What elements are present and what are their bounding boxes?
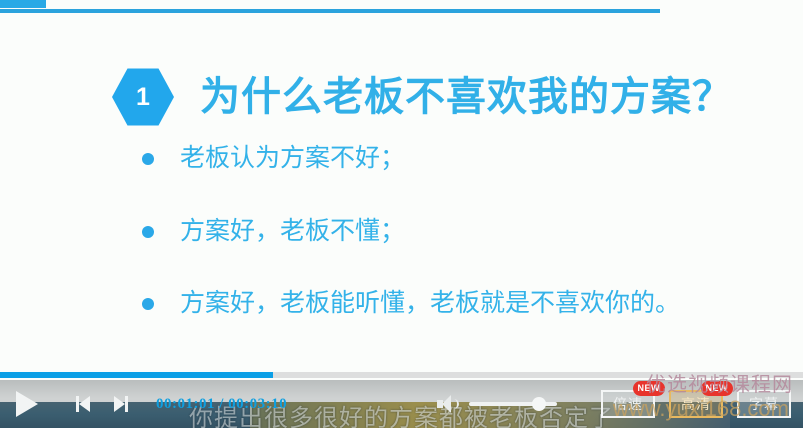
play-icon xyxy=(16,391,38,417)
bullet-dot-icon xyxy=(142,153,154,165)
bullet-text: 方案好，老板不懂； xyxy=(180,215,405,248)
previous-button[interactable] xyxy=(70,393,96,415)
speaker-wave xyxy=(453,399,459,409)
bullet-text: 老板认为方案不好； xyxy=(180,142,405,175)
volume-icon[interactable] xyxy=(437,394,459,414)
player-control-bar: 00:01:01 / 00:03:10 倍速 NEW 高清 NEW 字 xyxy=(0,380,803,428)
next-icon-bar xyxy=(125,396,128,412)
progress-bar-track[interactable] xyxy=(0,372,803,378)
previous-icon xyxy=(79,396,90,412)
bullet-text: 方案好，老板能听懂，老板就是不喜欢你的。 xyxy=(180,287,680,320)
section-number-text: 1 xyxy=(112,66,174,128)
video-player: 1 为什么老板不喜欢我的方案？ 老板认为方案不好； 方案好，老板不懂； 方案好，… xyxy=(0,0,803,428)
quality-new-badge: NEW xyxy=(701,381,734,396)
volume-slider-knob[interactable] xyxy=(532,397,546,411)
quality-button-label: 高清 xyxy=(681,396,711,412)
bullet-list: 老板认为方案不好； 方案好，老板不懂； 方案好，老板能听懂，老板就是不喜欢你的。 xyxy=(142,142,782,360)
slide-title-row: 1 为什么老板不喜欢我的方案？ xyxy=(112,66,733,128)
top-accent-rule xyxy=(0,9,660,13)
volume-slider-track[interactable] xyxy=(469,402,557,406)
top-accent-block xyxy=(0,0,46,8)
next-icon xyxy=(114,396,125,412)
list-item: 方案好，老板不懂； xyxy=(142,215,782,248)
speed-button[interactable]: 倍速 NEW xyxy=(601,390,655,418)
speed-new-badge: NEW xyxy=(633,381,666,396)
section-number-badge: 1 xyxy=(112,66,174,128)
progress-bar-fill xyxy=(0,372,273,378)
subtitle-button[interactable]: 字幕 xyxy=(737,390,791,418)
quality-button[interactable]: 高清 NEW xyxy=(669,390,723,418)
play-button[interactable] xyxy=(10,387,44,421)
volume-control xyxy=(437,394,557,414)
list-item: 方案好，老板能听懂，老板就是不喜欢你的。 xyxy=(142,287,782,320)
next-button[interactable] xyxy=(108,393,134,415)
bullet-dot-icon xyxy=(142,298,154,310)
subtitle-button-label: 字幕 xyxy=(749,396,779,412)
player-option-buttons: 倍速 NEW 高清 NEW 字幕 xyxy=(587,390,791,418)
speed-button-label: 倍速 xyxy=(613,396,643,412)
speaker-cone xyxy=(442,395,451,413)
slide-canvas: 1 为什么老板不喜欢我的方案？ 老板认为方案不好； 方案好，老板不懂； 方案好，… xyxy=(0,0,803,380)
list-item: 老板认为方案不好； xyxy=(142,142,782,175)
time-display: 00:01:01 / 00:03:10 xyxy=(156,396,287,413)
page-title: 为什么老板不喜欢我的方案？ xyxy=(200,77,733,117)
bullet-dot-icon xyxy=(142,226,154,238)
